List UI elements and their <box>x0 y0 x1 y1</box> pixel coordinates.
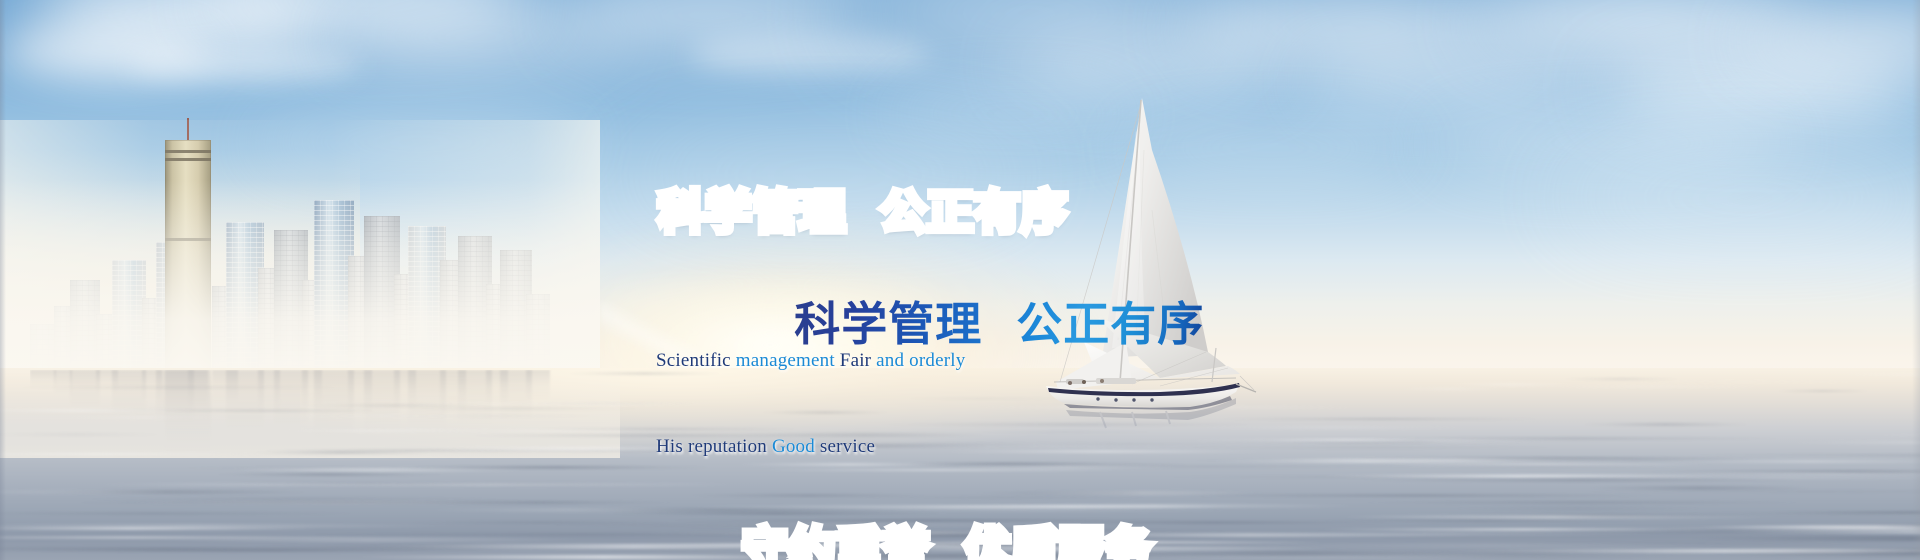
subtitle-block: Scientific management Fair and orderly H… <box>656 296 965 520</box>
water-ripple-148 <box>950 504 1361 508</box>
water-ripple-99 <box>1579 423 1752 426</box>
water-ripple-153 <box>68 501 603 504</box>
water-ripple-48 <box>213 473 446 476</box>
water-ripple-13 <box>0 512 367 515</box>
cloud-14 <box>1430 118 1790 168</box>
subtitle-line-1-word-0: Scientific <box>656 350 736 371</box>
water-ripple-19 <box>1534 385 1779 388</box>
water-ripple-126 <box>534 523 1086 527</box>
cloud-10 <box>1300 54 1600 108</box>
water-ripple-104 <box>0 453 274 455</box>
subtitle-line-2-word-0: His reputation <box>656 436 772 457</box>
water-ripple-88 <box>202 482 535 485</box>
water-ripple-147 <box>1339 553 1685 558</box>
subtitle-line-2: His reputation Good service <box>656 434 965 460</box>
water-ripple-138 <box>15 549 526 552</box>
water-ripple-132 <box>1558 490 1920 493</box>
city-base-mist <box>0 180 600 380</box>
sailboat-graphic <box>1040 90 1270 430</box>
subtitle-line-2-word-2: service <box>820 436 875 457</box>
water-ripple-144 <box>1773 390 1873 392</box>
cloud-18 <box>1550 170 1920 226</box>
water-ripple-160 <box>1559 378 1684 380</box>
water-ripple-146 <box>369 544 899 549</box>
water-ripple-154 <box>1584 486 1815 490</box>
subtitle-line-1: Scientific management Fair and orderly <box>656 348 965 374</box>
water-ripple-90 <box>257 415 589 417</box>
hero-banner: 科学管理 公正有序 科学管理 公正有序 守约重誉 优质服务 守约重誉 优质服务 … <box>0 0 1920 560</box>
water-ripple-102 <box>1651 460 1920 463</box>
water-ripple-77 <box>1857 434 1920 436</box>
water-ripple-2 <box>385 407 650 410</box>
water-ripple-135 <box>0 527 325 530</box>
water-ripple-141 <box>3 386 354 389</box>
water-ripple-96 <box>1224 543 1747 548</box>
water-ripple-162 <box>945 465 1184 469</box>
water-ripple-168 <box>54 416 236 419</box>
water-ripple-108 <box>1352 478 1806 482</box>
subtitle-line-1-word-3: and orderly <box>876 350 965 371</box>
subtitle-line-2-word-1: Good <box>772 436 820 457</box>
water-ripple-60 <box>942 450 1266 453</box>
water-ripple-145 <box>1446 383 1578 386</box>
water-ripple-38 <box>1397 388 1503 390</box>
water-ripple-156 <box>1169 446 1570 449</box>
water-ripple-103 <box>166 467 453 469</box>
water-ripple-164 <box>872 541 1332 544</box>
water-ripple-159 <box>145 537 592 542</box>
water-ripple-63 <box>1164 494 1667 497</box>
water-ripple-33 <box>961 431 1169 433</box>
water-ripple-136 <box>1679 536 1920 541</box>
water-ripple-74 <box>349 555 858 559</box>
water-ripple-87 <box>1445 506 1711 511</box>
left-edge-vignette <box>0 0 6 560</box>
right-edge-vignette <box>1912 0 1920 560</box>
sailboat <box>1040 90 1270 430</box>
water-ripple-121 <box>968 491 1272 495</box>
water-ripple-163 <box>320 429 501 431</box>
water-ripple-161 <box>298 404 490 407</box>
water-ripple-157 <box>654 531 983 535</box>
water-ripple-119 <box>1334 457 1804 459</box>
water-ripple-123 <box>1783 441 1920 444</box>
water-ripple-76 <box>1593 381 1895 383</box>
water-ripple-98 <box>1670 454 1920 456</box>
water-ripple-66 <box>1315 519 1646 522</box>
water-ripple-21 <box>157 457 579 459</box>
water-ripple-56 <box>1830 373 1920 376</box>
water-ripple-95 <box>1334 515 1773 519</box>
water-ripple-167 <box>1354 501 1810 504</box>
subtitle-line-1-word-1: management <box>736 350 840 371</box>
water-ripple-169 <box>1176 439 1565 442</box>
subtitle-line-1-word-2: Fair <box>840 350 876 371</box>
water-ripple-118 <box>0 433 170 436</box>
cloud-3 <box>130 48 360 82</box>
